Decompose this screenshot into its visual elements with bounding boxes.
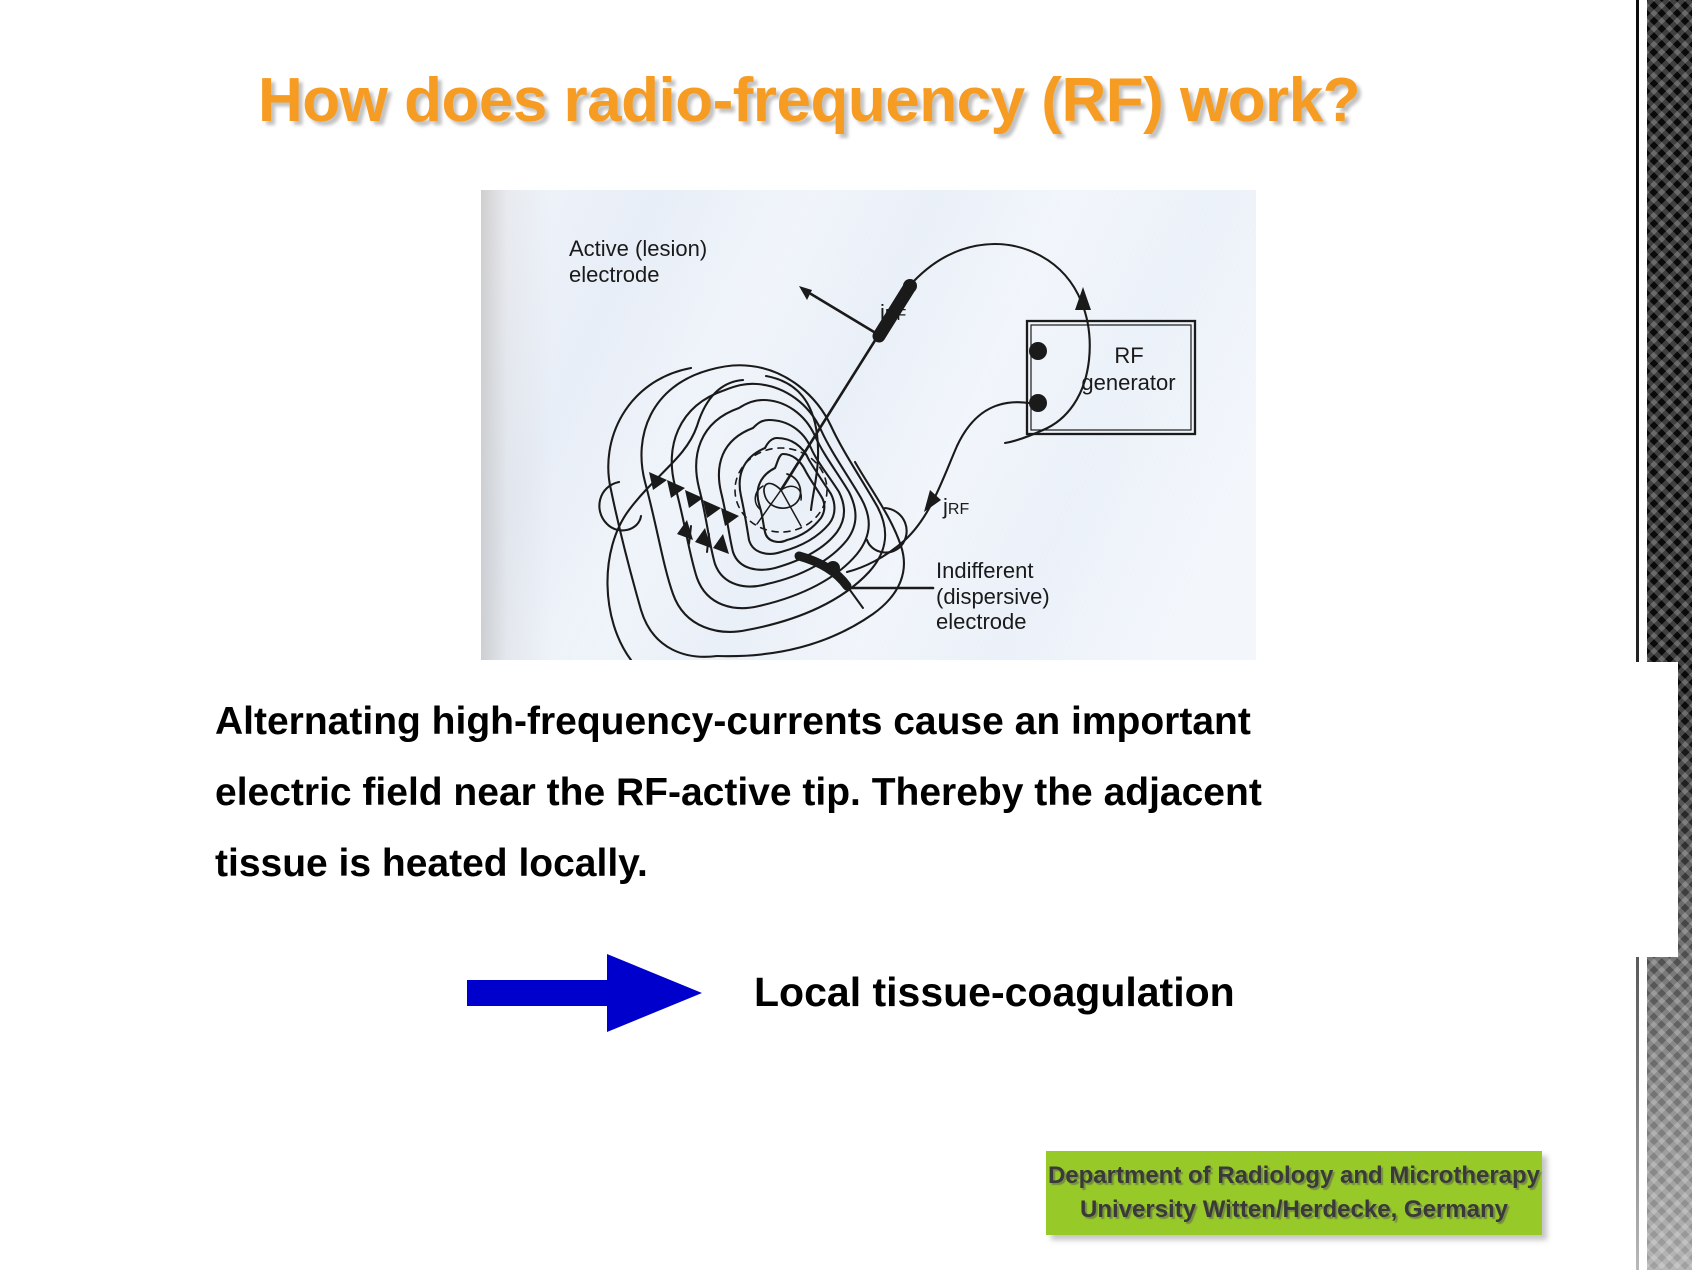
figure-label-jrf-top: jRF — [880, 300, 906, 326]
right-border-texture — [1647, 0, 1692, 1270]
body-line-2: electric field near the RF-active tip. T… — [215, 757, 1515, 828]
body-paragraph: Alternating high-frequency-currents caus… — [215, 686, 1515, 899]
footer-line-1: Department of Radiology and Microtherapy — [1048, 1159, 1540, 1193]
page-title: How does radio-frequency (RF) work? — [258, 70, 1692, 132]
figure-label-jrf-top-subscript: RF — [885, 307, 906, 324]
conclusion-text: Local tissue-coagulation — [754, 930, 1235, 1055]
figure-label-indifferent-electrode: Indifferent (dispersive) electrode — [936, 558, 1050, 635]
department-footer: Department of Radiology and Microtherapy… — [1046, 1151, 1542, 1235]
figure-label-rf-generator-line1: RF — [1079, 343, 1179, 369]
figure-label-rf-generator-line2: generator — [1051, 370, 1206, 396]
rf-circuit-figure: Active (lesion) electrode jRF jRF RF gen… — [481, 190, 1256, 660]
right-border-rule — [1636, 0, 1639, 1270]
right-arrow-icon — [467, 928, 707, 1058]
figure-label-jrf-bottom: jRF — [943, 494, 969, 520]
body-line-1: Alternating high-frequency-currents caus… — [215, 686, 1515, 757]
figure-label-active-electrode: Active (lesion) electrode — [569, 236, 707, 287]
footer-line-2: University Witten/Herdecke, Germany — [1080, 1193, 1508, 1227]
body-line-3: tissue is heated locally. — [215, 828, 1515, 899]
figure-label-jrf-bottom-subscript: RF — [948, 501, 969, 518]
slide-canvas: How does radio-frequency (RF) work? — [0, 0, 1692, 1270]
